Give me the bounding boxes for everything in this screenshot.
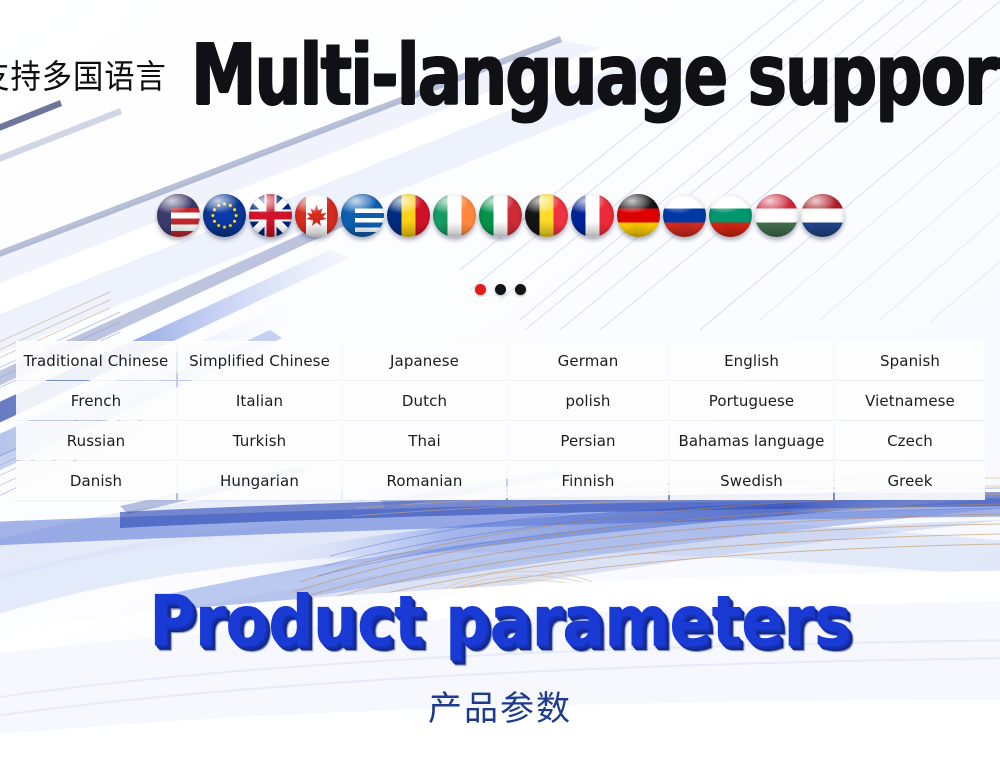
- flag-list: [0, 192, 1000, 238]
- banner-page: 支持多国语言 Multi-language support Traditiona…: [0, 0, 1000, 774]
- flag-greece[interactable]: [341, 194, 384, 237]
- language-cell[interactable]: Romanian: [343, 461, 506, 500]
- flag-romania[interactable]: [387, 194, 430, 237]
- header-title-en: Multi-language support: [191, 34, 1000, 118]
- flag-belgium[interactable]: [525, 194, 568, 237]
- language-cell[interactable]: Italian: [178, 381, 341, 420]
- flag-bulgaria[interactable]: [709, 194, 752, 237]
- language-cell[interactable]: Greek: [835, 461, 985, 500]
- language-cell[interactable]: Bahamas language: [670, 421, 833, 460]
- dot-active[interactable]: [475, 284, 486, 295]
- header: 支持多国语言 Multi-language support: [0, 30, 1000, 122]
- language-cell[interactable]: Portuguese: [670, 381, 833, 420]
- flag-usa[interactable]: [157, 194, 200, 237]
- flag-bulgaria-face: [709, 194, 752, 237]
- language-cell[interactable]: Spanish: [835, 341, 985, 380]
- flag-belgium-face: [525, 194, 568, 237]
- language-cell[interactable]: Japanese: [343, 341, 506, 380]
- flag-ireland[interactable]: [433, 194, 476, 237]
- product-parameters-title: Product parameters: [0, 586, 1000, 657]
- flag-romania-face: [387, 194, 430, 237]
- language-cell[interactable]: Simplified Chinese: [178, 341, 341, 380]
- flag-hungary-face: [755, 194, 798, 237]
- language-cell[interactable]: Persian: [508, 421, 668, 460]
- flag-canada[interactable]: [295, 194, 338, 237]
- language-cell[interactable]: Swedish: [670, 461, 833, 500]
- language-row: DanishHungarianRomanianFinnishSwedishGre…: [16, 461, 985, 500]
- language-cell[interactable]: Turkish: [178, 421, 341, 460]
- flag-uk-face: [249, 194, 292, 237]
- dot-3[interactable]: [515, 284, 526, 295]
- flag-germany-face: [617, 194, 660, 237]
- maple-leaf-icon: [295, 194, 338, 237]
- language-cell[interactable]: Hungarian: [178, 461, 341, 500]
- language-cell[interactable]: English: [670, 341, 833, 380]
- dot-2[interactable]: [495, 284, 506, 295]
- carousel-dots[interactable]: [0, 284, 1000, 295]
- flag-usa-face: [157, 194, 200, 237]
- language-cell[interactable]: Czech: [835, 421, 985, 460]
- flag-greece-face: [341, 194, 384, 237]
- language-cell[interactable]: Russian: [16, 421, 176, 460]
- flag-france[interactable]: [571, 194, 614, 237]
- header-title-cn: 支持多国语言: [0, 60, 167, 93]
- language-cell[interactable]: German: [508, 341, 668, 380]
- flag-italy-face: [479, 194, 522, 237]
- language-cell[interactable]: polish: [508, 381, 668, 420]
- flag-ireland-face: [433, 194, 476, 237]
- flag-italy[interactable]: [479, 194, 522, 237]
- language-cell[interactable]: Finnish: [508, 461, 668, 500]
- flag-france-face: [571, 194, 614, 237]
- language-cell[interactable]: Traditional Chinese: [16, 341, 176, 380]
- language-cell[interactable]: Thai: [343, 421, 506, 460]
- flag-netherlands[interactable]: [801, 194, 844, 237]
- flag-uk[interactable]: [249, 194, 292, 237]
- flag-netherlands-face: [801, 194, 844, 237]
- eu-stars: [203, 194, 246, 237]
- flag-russia[interactable]: [663, 194, 706, 237]
- flag-hungary[interactable]: [755, 194, 798, 237]
- language-row: Traditional ChineseSimplified ChineseJap…: [16, 341, 985, 380]
- language-row: FrenchItalianDutchpolishPortugueseVietna…: [16, 381, 985, 420]
- flag-germany[interactable]: [617, 194, 660, 237]
- flag-eu[interactable]: [203, 194, 246, 237]
- language-row: RussianTurkishThaiPersianBahamas languag…: [16, 421, 985, 460]
- flag-russia-face: [663, 194, 706, 237]
- language-cell[interactable]: French: [16, 381, 176, 420]
- language-cell[interactable]: Vietnamese: [835, 381, 985, 420]
- language-table: Traditional ChineseSimplified ChineseJap…: [16, 341, 985, 500]
- language-cell[interactable]: Danish: [16, 461, 176, 500]
- product-parameters-subtitle-cn: 产品参数: [0, 692, 1000, 726]
- language-cell[interactable]: Dutch: [343, 381, 506, 420]
